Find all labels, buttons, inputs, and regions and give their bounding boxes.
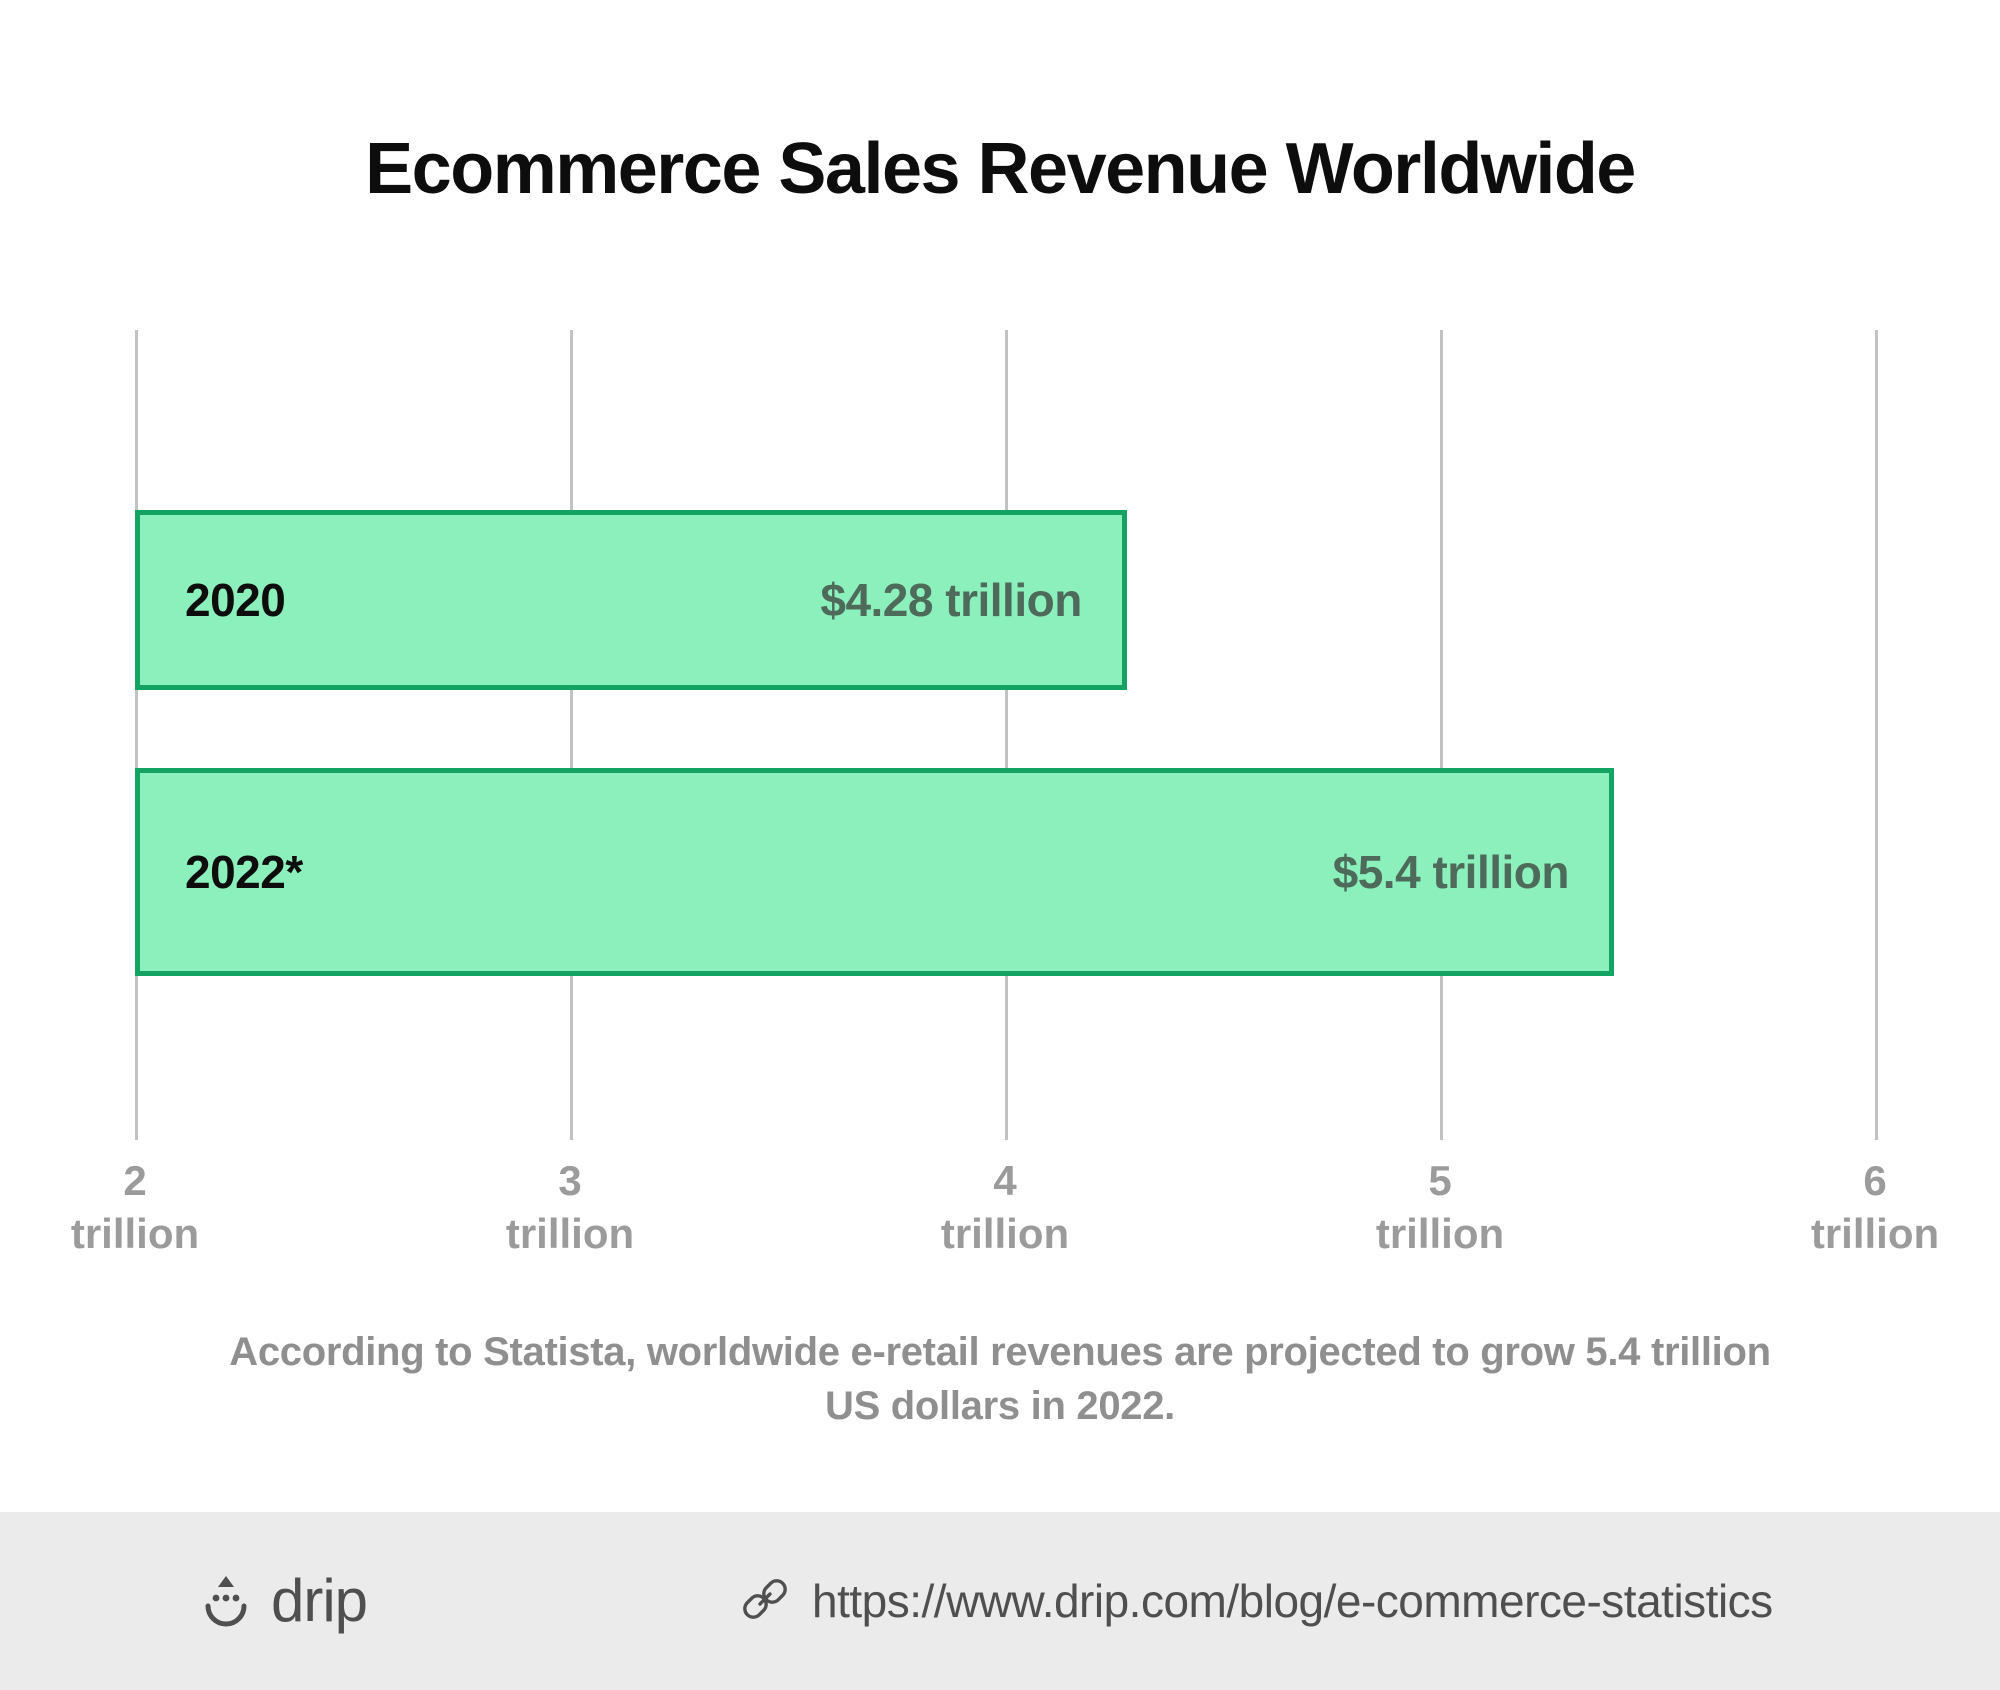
x-tick-value: 2 <box>123 1157 146 1204</box>
bar-row-2022: 2022* $5.4 trillion <box>135 768 1875 976</box>
x-tick-2-trillion: 2 trillion <box>5 1155 265 1260</box>
gridline-5-trillion <box>1440 330 1443 1140</box>
bar-label-value-2022: $5.4 trillion <box>1333 845 1569 899</box>
x-tick-unit: trillion <box>1310 1208 1570 1261</box>
gridline-4-trillion <box>1005 330 1008 1140</box>
gridline-3-trillion <box>570 330 573 1140</box>
caption-line-2: US dollars in 2022. <box>150 1379 1850 1433</box>
x-tick-value: 6 <box>1863 1157 1886 1204</box>
x-tick-value: 3 <box>558 1157 581 1204</box>
bar-2020[interactable]: 2020 $4.28 trillion <box>135 510 1127 690</box>
x-tick-unit: trillion <box>440 1208 700 1261</box>
bar-row-2020: 2020 $4.28 trillion <box>135 510 1875 690</box>
drip-logo[interactable]: drip <box>195 1568 367 1635</box>
bar-label-category-2020: 2020 <box>185 573 285 627</box>
link-chain-icon <box>740 1574 790 1629</box>
x-tick-4-trillion: 4 trillion <box>875 1155 1135 1260</box>
drip-droplet-smiley-icon <box>195 1568 257 1635</box>
x-tick-6-trillion: 6 trillion <box>1745 1155 2000 1260</box>
gridline-6-trillion <box>1875 330 1878 1140</box>
footer-bar: drip https://www.drip.com/blog/e-commerc… <box>0 1512 2000 1690</box>
x-tick-unit: trillion <box>875 1208 1135 1261</box>
bar-label-category-2022: 2022* <box>185 845 303 899</box>
drip-wordmark: drip <box>271 1571 367 1631</box>
gridline-2-trillion <box>135 330 138 1140</box>
page-title: Ecommerce Sales Revenue Worldwide <box>0 130 2000 209</box>
x-tick-value: 5 <box>1428 1157 1451 1204</box>
source-url-text: https://www.drip.com/blog/e-commerce-sta… <box>812 1574 1773 1628</box>
chart-caption: According to Statista, worldwide e-retai… <box>150 1325 1850 1433</box>
caption-line-1: According to Statista, worldwide e-retai… <box>150 1325 1850 1379</box>
x-tick-unit: trillion <box>5 1208 265 1261</box>
x-tick-value: 4 <box>993 1157 1016 1204</box>
x-tick-5-trillion: 5 trillion <box>1310 1155 1570 1260</box>
x-tick-unit: trillion <box>1745 1208 2000 1261</box>
chart-plot-area: 2020 $4.28 trillion 2022* $5.4 trillion <box>135 330 1875 1140</box>
x-tick-3-trillion: 3 trillion <box>440 1155 700 1260</box>
source-link[interactable]: https://www.drip.com/blog/e-commerce-sta… <box>740 1574 1773 1629</box>
bar-label-value-2020: $4.28 trillion <box>820 573 1081 627</box>
bar-2022[interactable]: 2022* $5.4 trillion <box>135 768 1614 976</box>
